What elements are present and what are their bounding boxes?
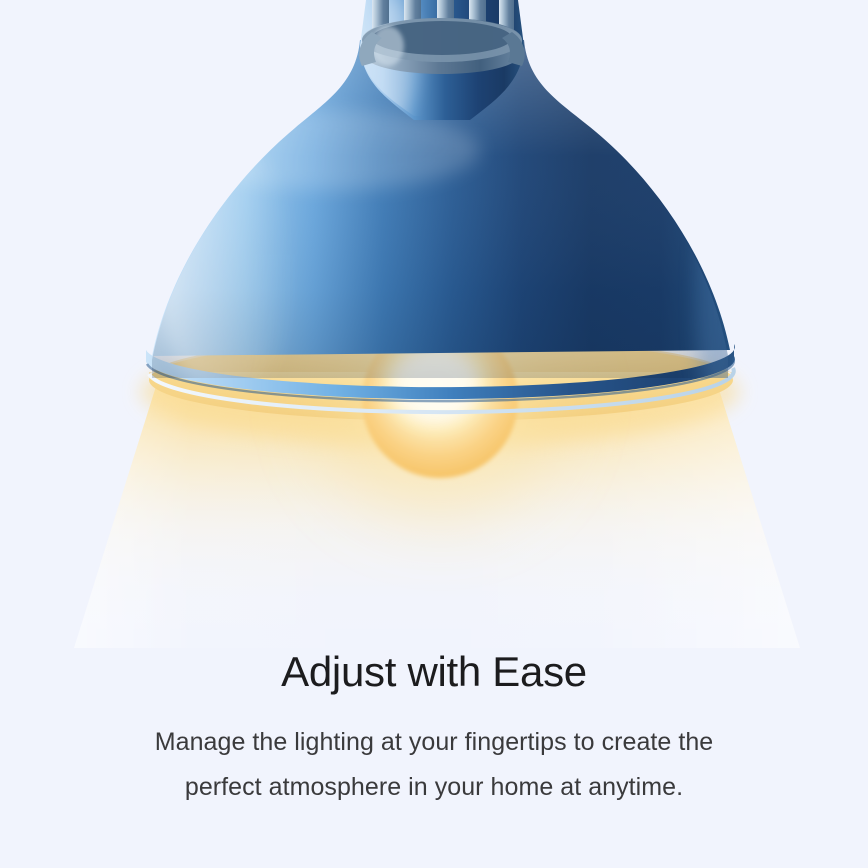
caption-block: Adjust with Ease Manage the lighting at … [0,646,868,810]
page-title: Adjust with Ease [0,646,868,698]
hero-illustration [0,0,868,650]
description-line-1: Manage the lighting at your fingertips t… [0,720,868,765]
pendant-lamp-illustration [0,0,868,650]
description-line-2: perfect atmosphere in your home at anyti… [0,765,868,810]
mount-collar [362,18,522,74]
lamp-mount-hardware [359,0,525,74]
product-feature-page: Adjust with Ease Manage the lighting at … [0,0,868,868]
